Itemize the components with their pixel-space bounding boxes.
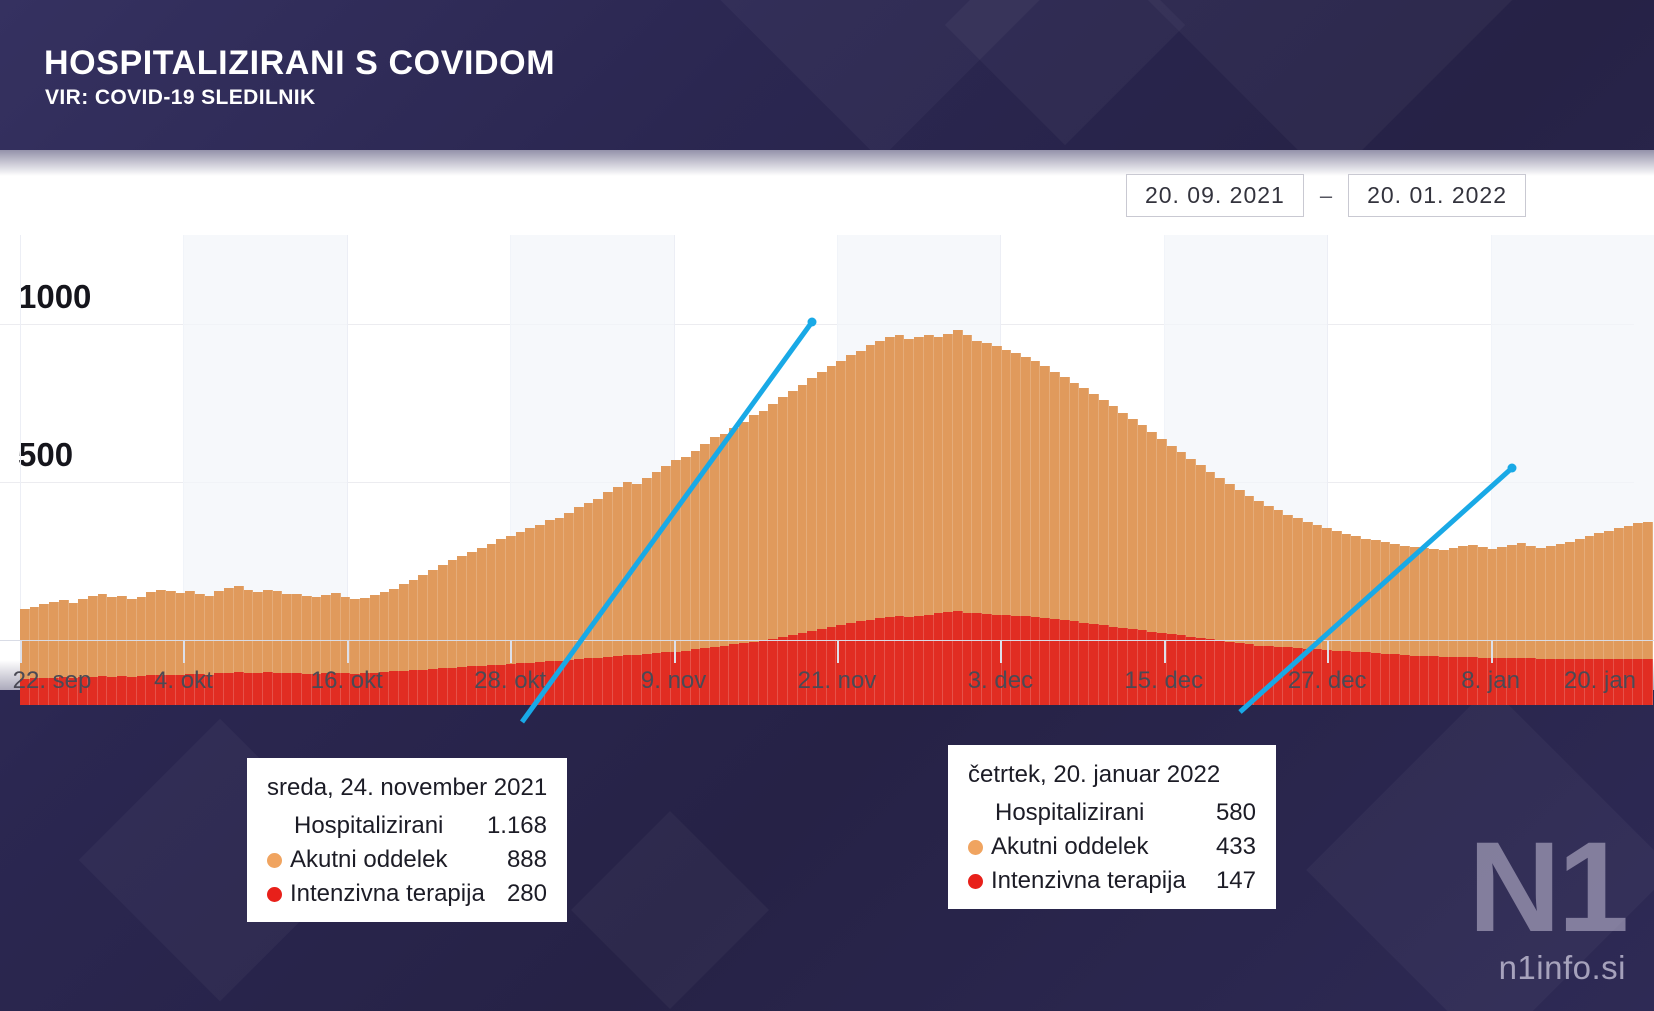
x-axis-tick [1164, 641, 1166, 663]
tooltip-row-icu: Intenzivna terapija 280 [267, 880, 547, 908]
tooltip-date: sreda, 24. november 2021 [267, 774, 547, 802]
bar-segment-acute[interactable] [943, 334, 953, 612]
bar-segment-acute[interactable] [710, 437, 720, 646]
bar-segment-acute[interactable] [1381, 542, 1391, 653]
bar-segment-acute[interactable] [749, 415, 759, 642]
bar-segment-acute[interactable] [729, 428, 739, 644]
bar-segment-acute[interactable] [1371, 540, 1381, 653]
tooltip-label-acute: Akutni oddelek [290, 846, 489, 874]
bar-segment-acute[interactable] [788, 391, 798, 635]
x-axis-label: 16. okt [311, 667, 383, 695]
bar-segment-acute[interactable] [895, 335, 905, 616]
x-axis-tick [510, 641, 512, 663]
tooltip-value-acute: 433 [1216, 833, 1256, 861]
bar-segment-acute[interactable] [934, 337, 944, 614]
bar-segment-acute[interactable] [574, 507, 584, 659]
bar-segment-acute[interactable] [623, 482, 633, 655]
acute-dot-icon [968, 840, 983, 855]
bar-segment-acute[interactable] [817, 372, 827, 629]
tooltip-value-total: 1.168 [487, 812, 547, 840]
x-axis-tick [1000, 641, 1002, 663]
bar-segment-acute[interactable] [1109, 406, 1119, 626]
bar-segment-acute[interactable] [1031, 361, 1041, 617]
x-axis-label: 8. jan [1461, 667, 1520, 695]
bar-segment-acute[interactable] [1060, 377, 1070, 620]
date-range-control[interactable]: 20. 09. 2021 – 20. 01. 2022 [1126, 174, 1526, 217]
tooltip-value-icu: 280 [507, 880, 547, 908]
x-axis-tick [674, 641, 676, 663]
bar-segment-acute[interactable] [1283, 515, 1293, 648]
bar-segment-acute[interactable] [1167, 446, 1177, 635]
icu-dot-icon [968, 874, 983, 889]
bar-segment-acute[interactable] [1147, 432, 1157, 631]
bar-segment-acute[interactable] [632, 484, 642, 655]
page-subtitle: VIR: COVID-19 SLEDILNIK [45, 86, 316, 110]
x-axis-tick [347, 641, 349, 663]
bar-segment-acute[interactable] [1215, 478, 1225, 641]
bar-segment-acute[interactable] [691, 451, 701, 650]
bar-segment-acute[interactable] [1245, 496, 1255, 645]
bar-segment-acute[interactable] [1206, 472, 1216, 640]
bar-segment-acute[interactable] [1633, 523, 1643, 658]
n1-logo: N1 n1info.si [1468, 829, 1626, 987]
bar-segment-acute[interactable] [661, 466, 671, 652]
bar-segment-acute[interactable] [904, 339, 914, 617]
bar-segment-acute[interactable] [1138, 425, 1148, 630]
tooltip-row-total: Hospitalizirani 1.168 [267, 812, 547, 840]
bar-segment-acute[interactable] [856, 351, 866, 622]
x-axis-label: 27. dec [1288, 667, 1367, 695]
bar-segment-acute[interactable] [1089, 394, 1099, 624]
bar-segment-acute[interactable] [846, 355, 856, 623]
bar-segment-acute[interactable] [982, 343, 992, 614]
bar-segment-acute[interactable] [1361, 539, 1371, 653]
tooltip-label-icu: Intenzivna terapija [991, 867, 1198, 895]
bar-segment-acute[interactable] [1196, 465, 1206, 638]
bar-segment-acute[interactable] [924, 335, 934, 615]
bar-segment-acute[interactable] [1342, 534, 1352, 652]
tooltip-label-total: Hospitalizirani [290, 812, 469, 840]
bar-segment-acute[interactable] [1050, 372, 1060, 619]
x-axis-labels: 22. sep4. okt16. okt28. okt9. nov21. nov… [0, 667, 1654, 701]
bar-segment-acute[interactable] [584, 503, 594, 659]
tooltip-row-acute: Akutni oddelek 888 [267, 846, 547, 874]
bar-segment-acute[interactable] [739, 422, 749, 643]
tooltip-november: sreda, 24. november 2021 Hospitalizirani… [247, 758, 567, 922]
bar-segment-acute[interactable] [1235, 490, 1245, 643]
tooltip-january: četrtek, 20. januar 2022 Hospitalizirani… [948, 745, 1276, 909]
bar-segment-acute[interactable] [1011, 353, 1021, 616]
bar-segment-acute[interactable] [603, 492, 613, 657]
bar-segment-acute[interactable] [807, 378, 817, 631]
bar-segment-acute[interactable] [1157, 439, 1167, 633]
x-axis-label: 22. sep [13, 667, 92, 695]
bar-segment-acute[interactable] [720, 434, 730, 645]
bar-segment-acute[interactable] [1177, 452, 1187, 636]
tooltip-row-total: Hospitalizirani 580 [968, 799, 1256, 827]
date-end-input[interactable]: 20. 01. 2022 [1348, 174, 1526, 217]
bar-segment-acute[interactable] [1128, 419, 1138, 629]
bar-segment-acute[interactable] [914, 337, 924, 615]
bar-segment-acute[interactable] [642, 478, 652, 654]
deco-shape [571, 811, 769, 1009]
bar-segment-acute[interactable] [564, 513, 574, 660]
x-axis-tick [1327, 641, 1329, 663]
acute-dot-icon [267, 853, 282, 868]
x-axis-label: 9. nov [641, 667, 706, 695]
bar-segment-acute[interactable] [1070, 383, 1080, 622]
bar-segment-acute[interactable] [1303, 522, 1313, 649]
bar-segment-acute[interactable] [613, 487, 623, 656]
bar-segment-acute[interactable] [59, 600, 69, 677]
tooltip-label-total: Hospitalizirani [991, 799, 1198, 827]
tooltip-value-total: 580 [1216, 799, 1256, 827]
header: HOSPITALIZIRANI S COVIDOM VIR: COVID-19 … [0, 0, 1654, 150]
bar-segment-acute[interactable] [1614, 528, 1624, 658]
bar-segment-acute[interactable] [798, 385, 808, 633]
bar-segment-acute[interactable] [1264, 506, 1274, 646]
bar-segment-acute[interactable] [1643, 522, 1653, 659]
x-axis-tick [183, 641, 185, 663]
bar-segment-acute[interactable] [1313, 525, 1323, 649]
bar-segment-acute[interactable] [836, 361, 846, 626]
tooltip-value-acute: 888 [507, 846, 547, 874]
logo-mark: N1 [1468, 829, 1626, 947]
bar-segment-acute[interactable] [953, 330, 963, 612]
bar-segment-acute[interactable] [885, 337, 895, 617]
date-start-input[interactable]: 20. 09. 2021 [1126, 174, 1304, 217]
bar-segment-acute[interactable] [1002, 350, 1012, 615]
date-range-separator: – [1304, 183, 1348, 209]
tooltip-label-icu: Intenzivna terapija [290, 880, 489, 908]
bar-segment-acute[interactable] [1118, 413, 1128, 628]
bar-segment-acute[interactable] [1400, 546, 1410, 655]
x-axis-label: 4. okt [154, 667, 213, 695]
bar-segment-acute[interactable] [778, 397, 788, 636]
bar-segment-acute[interactable] [1390, 544, 1400, 655]
tooltip-value-icu: 147 [1216, 867, 1256, 895]
bar-segment-acute[interactable] [1332, 531, 1342, 651]
bar-segment-acute[interactable] [972, 341, 982, 614]
tooltip-date: četrtek, 20. januar 2022 [968, 761, 1256, 789]
panel-top-shadow [0, 150, 1654, 176]
bar-segment-acute[interactable] [992, 346, 1002, 614]
bar-segment-acute[interactable] [963, 335, 973, 612]
bar-segment-acute[interactable] [593, 499, 603, 657]
hospitalizations-chart[interactable]: 5001000 22. sep4. okt16. okt28. okt9. no… [0, 235, 1654, 705]
bar-segment-acute[interactable] [78, 599, 88, 677]
chart-panel: 20. 09. 2021 – 20. 01. 2022 5001000 22. … [0, 150, 1654, 690]
bar-segment-acute[interactable] [866, 345, 876, 620]
bar-segment-acute[interactable] [671, 460, 681, 651]
tooltip-dot-placeholder [267, 819, 282, 834]
tooltip-row-icu: Intenzivna terapija 147 [968, 867, 1256, 895]
x-axis-label: 20. jan [1564, 667, 1636, 695]
bar-segment-acute[interactable] [681, 457, 691, 651]
x-axis-label: 28. okt [474, 667, 546, 695]
bar-segment-acute[interactable] [700, 444, 710, 648]
x-axis-label: 15. dec [1124, 667, 1203, 695]
bar-segment-acute[interactable] [875, 341, 885, 618]
x-axis-tick [1491, 641, 1493, 663]
bar-segment-acute[interactable] [1186, 459, 1196, 637]
x-axis-label: 3. dec [968, 667, 1033, 695]
bar-segment-acute[interactable] [1254, 501, 1264, 645]
icu-dot-icon [267, 887, 282, 902]
bar-segment-acute[interactable] [652, 472, 662, 653]
tooltip-label-acute: Akutni oddelek [991, 833, 1198, 861]
bar-segment-acute[interactable] [1624, 526, 1634, 659]
bar-segment-acute[interactable] [759, 411, 769, 641]
bar-segment-acute[interactable] [1322, 528, 1332, 650]
bar-segment-acute[interactable] [1351, 536, 1361, 652]
x-axis-ticks [0, 641, 1654, 665]
x-axis-tick [20, 641, 22, 663]
bar-segment-acute[interactable] [1079, 388, 1089, 623]
bar-segment-acute[interactable] [1225, 484, 1235, 642]
bar-segment-acute[interactable] [1274, 510, 1284, 647]
x-axis-tick [837, 641, 839, 663]
tooltip-row-acute: Akutni oddelek 433 [968, 833, 1256, 861]
bar-segment-acute[interactable] [1099, 400, 1109, 625]
bar-segment-acute[interactable] [768, 404, 778, 639]
bar-segment-acute[interactable] [827, 366, 837, 627]
tooltip-dot-placeholder [968, 806, 983, 821]
x-axis-label: 21. nov [798, 667, 877, 695]
bar-segment-acute[interactable] [1021, 357, 1031, 616]
bar-segment-acute[interactable] [1040, 366, 1050, 618]
page-title: HOSPITALIZIRANI S COVIDOM [44, 44, 555, 83]
bar-segment-acute[interactable] [1293, 518, 1303, 648]
